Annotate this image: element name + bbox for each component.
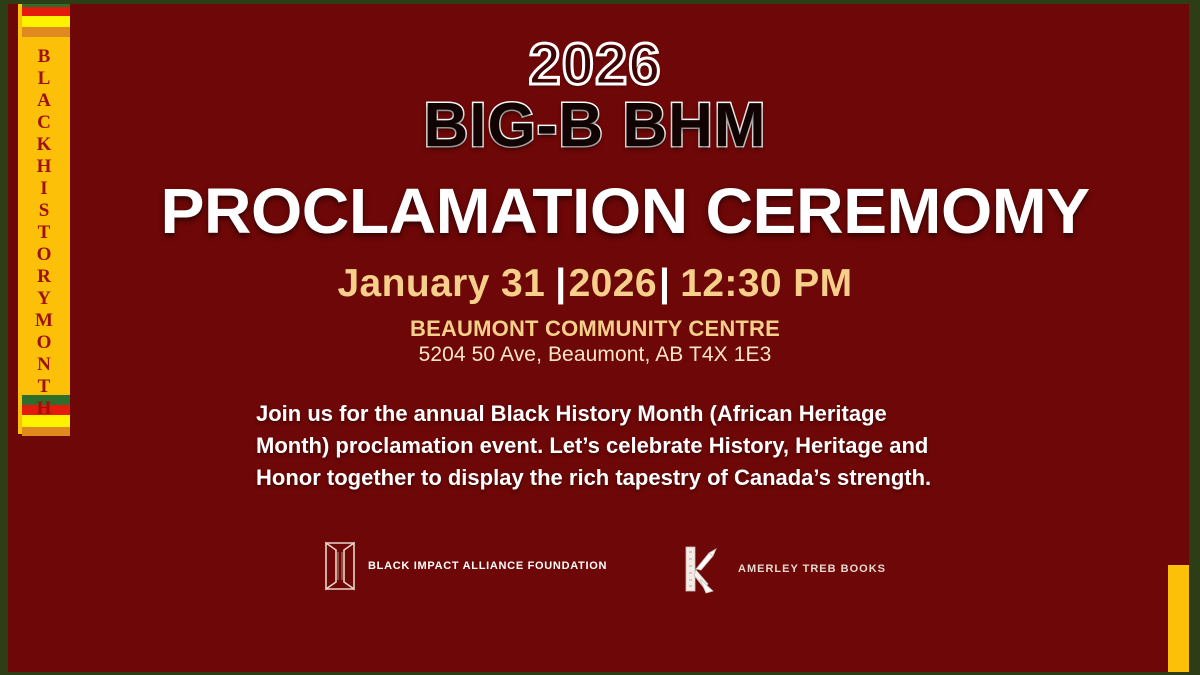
stripe-yellow (22, 16, 70, 27)
sidebar-letter: M (35, 310, 53, 332)
stripe-orange (22, 27, 70, 37)
frame-edge-right (1189, 0, 1200, 675)
sidebar-letter: Y (37, 288, 51, 310)
sidebar-letter: I (40, 178, 47, 200)
date-separator-2: | (657, 262, 672, 305)
sidebar-letter: K (37, 134, 52, 156)
sidebar-stripes-top (22, 0, 70, 37)
page-title: PROCLAMATION CEREMOMY (64, 174, 1187, 248)
sidebar-letter: N (37, 354, 51, 376)
event-date: January 31 (337, 262, 545, 305)
sponsor-name: BLACK IMPACT ALLIANCE FOUNDATION (368, 560, 607, 572)
sidebar-letter: S (39, 200, 50, 222)
sponsor-black-impact-alliance-foundation: BLACK IMPACT ALLIANCE FOUNDATION (322, 539, 607, 593)
open-book-icon (322, 539, 358, 593)
event-poster: B L A C K H I S T O R Y M O N T H 2026 B… (0, 0, 1200, 675)
event-year: 2026 (569, 262, 657, 305)
sidebar-letter: C (37, 112, 51, 134)
letter-k-bookmark-icon (680, 543, 728, 595)
sidebar-letter: O (37, 332, 52, 354)
sidebar-letter: T (38, 222, 51, 244)
poster-content: 2026 BIG-B BHM PROCLAMATION CEREMOMY Jan… (80, 0, 1190, 675)
event-venue: BEAUMONT COMMUNITY CENTRE (80, 316, 1110, 342)
event-description: Join us for the annual Black History Mon… (256, 398, 966, 494)
frame-edge-left (0, 0, 8, 675)
sidebar-vertical-title: B L A C K H I S T O R Y M O N T H (18, 46, 70, 386)
sidebar-letter: A (37, 90, 51, 112)
sponsor-name: AMERLEY TREB BOOKS (738, 563, 886, 575)
sponsor-amerley-treb-books: AMERLEY TREB BOOKS (680, 543, 886, 595)
event-time: 12:30 PM (680, 262, 852, 305)
sidebar-letter: H (37, 398, 52, 420)
sidebar-letter: B (38, 46, 51, 68)
sidebar-letter: R (37, 266, 51, 288)
date-separator-1: | (553, 262, 568, 305)
event-datetime: January 31|2026|12:30 PM (80, 262, 1110, 306)
sidebar-letter: O (37, 244, 52, 266)
sponsor-logos: BLACK IMPACT ALLIANCE FOUNDATION AMERLEY… (80, 533, 1110, 613)
sidebar-letter: H (37, 156, 52, 178)
event-year-outline: 2026 (80, 31, 1110, 98)
sidebar-letter: T (38, 376, 51, 398)
event-brand-title: BIG-B BHM (80, 90, 1110, 161)
stripe-orange (22, 427, 70, 436)
frame-edge-top (0, 0, 1200, 4)
sidebar-letter: L (38, 68, 51, 90)
event-address: 5204 50 Ave, Beaumont, AB T4X 1E3 (80, 343, 1110, 367)
stripe-red (22, 7, 70, 16)
